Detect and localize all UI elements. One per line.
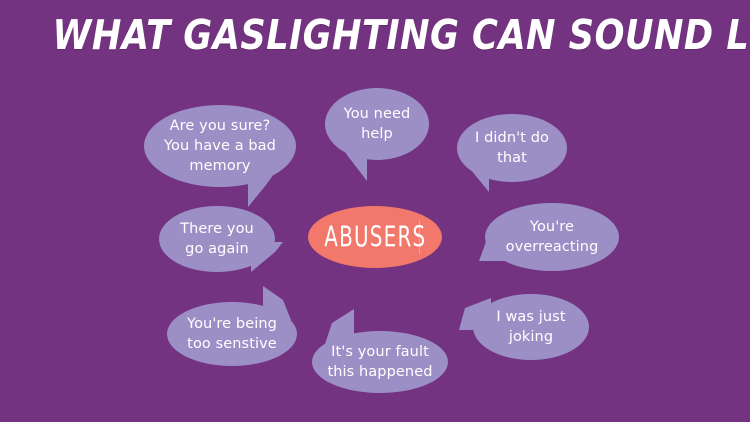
bubble-text: You're being too senstive — [187, 314, 277, 354]
abusers-text: ABUSERS — [324, 221, 426, 254]
bubble-text: There you go again — [180, 219, 254, 259]
infographic-canvas: WHAT GASLIGHTING CAN SOUND LIKE Are you … — [0, 0, 750, 422]
bubble-tail-down-right — [248, 171, 276, 207]
center-label-abusers: ABUSERS — [308, 206, 442, 268]
bubble-text: It's your fault this happened — [327, 342, 432, 382]
bubble-text: You're overreacting — [506, 217, 599, 257]
text-caret — [419, 220, 420, 254]
bubble-text: Are you sure? You have a bad memory — [164, 116, 276, 176]
speech-bubble-i-didnt-do-that: I didn't do that — [457, 114, 567, 182]
bubble-text: I was just joking — [496, 307, 565, 347]
speech-bubble-there-you-go-again: There you go again — [159, 206, 275, 272]
bubble-tail-down-left — [339, 141, 367, 181]
bubble-text: You need help — [344, 104, 411, 144]
page-title: WHAT GASLIGHTING CAN SOUND LIKE — [53, 12, 698, 58]
speech-bubble-youre-being-too-senstive: You're being too senstive — [167, 302, 297, 366]
bubble-text: I didn't do that — [475, 128, 549, 168]
speech-bubble-i-was-just-joking: I was just joking — [473, 294, 589, 360]
bubble-tail-up-left — [459, 298, 491, 330]
bubble-tail-right — [251, 242, 283, 272]
speech-bubble-its-your-fault-this-happened: It's your fault this happened — [312, 331, 448, 393]
speech-bubble-are-you-sure: Are you sure? You have a bad memory — [144, 105, 296, 187]
speech-bubble-you-need-help: You need help — [325, 88, 429, 160]
speech-bubble-youre-overreacting: You're overreacting — [485, 203, 619, 271]
